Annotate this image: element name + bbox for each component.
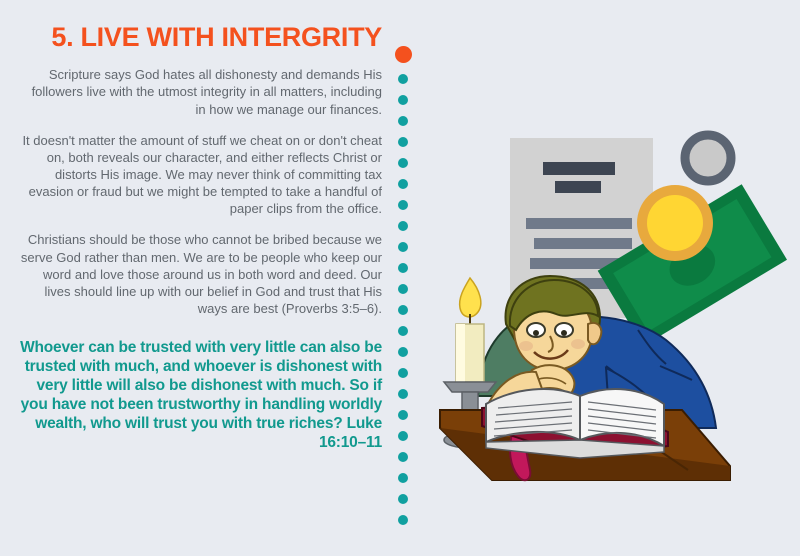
- document-text-bar: [526, 218, 632, 229]
- infographic-page: 5. LIVE WITH INTERGRITY Scripture says G…: [0, 0, 800, 556]
- text-column: 5. LIVE WITH INTERGRITY Scripture says G…: [18, 22, 382, 453]
- gray-ring-coin-icon: [685, 135, 731, 181]
- divider-lead-dot: [395, 46, 412, 63]
- divider-dot: [398, 137, 408, 147]
- divider-dot: [398, 263, 408, 273]
- document-text-bar: [555, 181, 601, 193]
- gold-coin-icon: [637, 185, 713, 261]
- document-text-bar: [543, 162, 615, 175]
- divider-dot: [398, 368, 408, 378]
- body-paragraph-3: Christians should be those who cannot be…: [18, 231, 382, 317]
- divider-dot: [398, 452, 408, 462]
- divider-dot: [398, 410, 408, 420]
- man-reading-bible-with-money-illustration: [430, 128, 790, 528]
- dotted-divider: [394, 54, 412, 536]
- divider-dot: [398, 515, 408, 525]
- document-text-bar: [534, 238, 632, 249]
- divider-dot: [398, 284, 408, 294]
- body-paragraph-2: It doesn't matter the amount of stuff we…: [18, 132, 382, 218]
- divider-dot: [398, 179, 408, 189]
- divider-dot: [398, 158, 408, 168]
- divider-dot: [398, 95, 408, 105]
- divider-dot: [398, 389, 408, 399]
- divider-dot: [398, 326, 408, 336]
- divider-dot: [398, 242, 408, 252]
- body-paragraph-1: Scripture says God hates all dishonesty …: [18, 66, 382, 117]
- divider-dot: [398, 74, 408, 84]
- divider-dot: [398, 473, 408, 483]
- divider-dot: [398, 200, 408, 210]
- divider-dot: [398, 221, 408, 231]
- page-title: 5. LIVE WITH INTERGRITY: [18, 22, 382, 52]
- pull-quote: Whoever can be trusted with very little …: [18, 339, 382, 452]
- divider-dot: [398, 494, 408, 504]
- divider-dot: [398, 347, 408, 357]
- divider-dot: [398, 305, 408, 315]
- divider-dot: [398, 116, 408, 126]
- open-bible-icon: [482, 389, 668, 458]
- divider-dot: [398, 431, 408, 441]
